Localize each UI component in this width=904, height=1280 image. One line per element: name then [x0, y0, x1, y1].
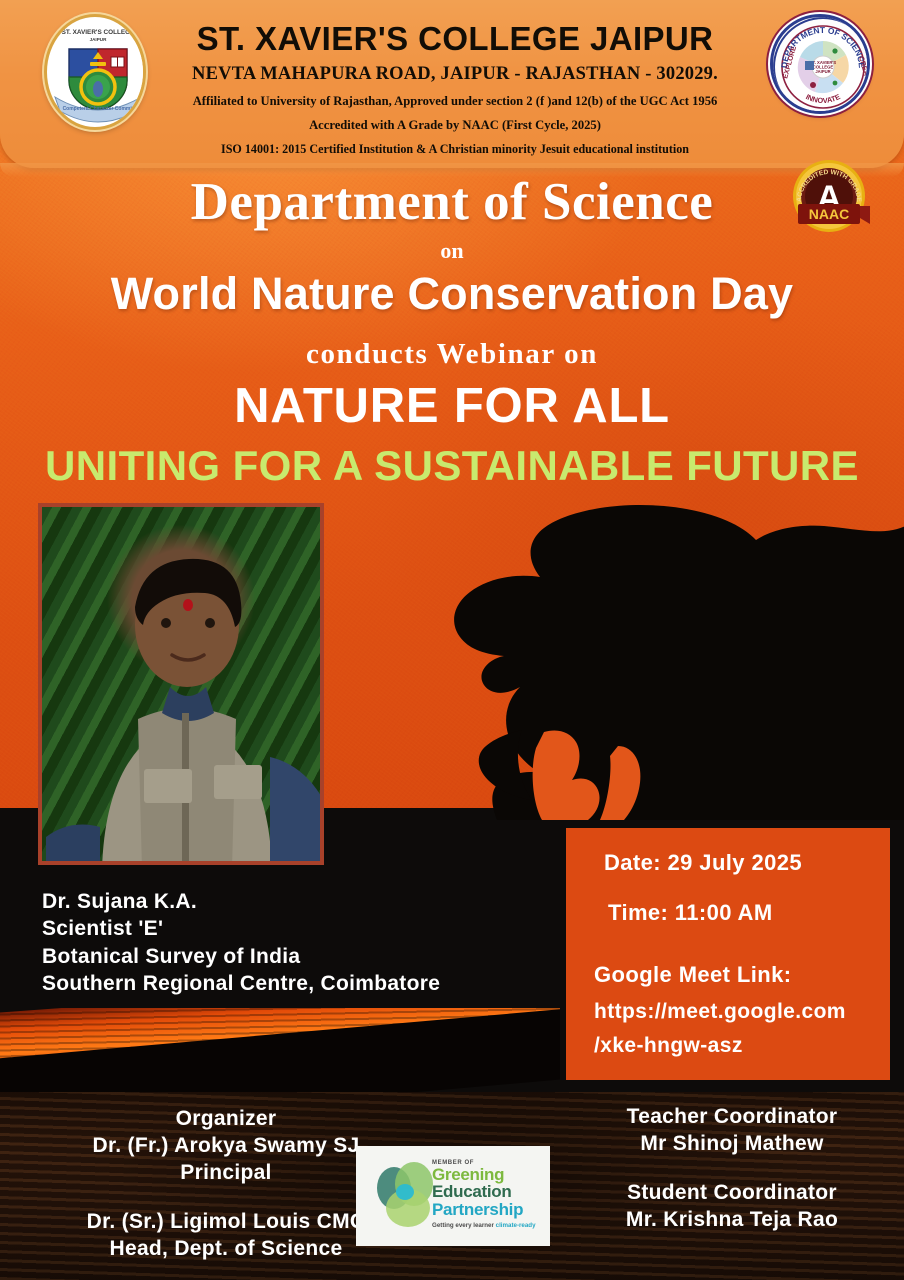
department-title: Department of Science — [0, 172, 904, 232]
webinar-topic: NATURE FOR ALL — [0, 378, 904, 434]
gep-line3: Partnership — [432, 1201, 536, 1218]
iso-line: ISO 14001: 2015 Certified Institution & … — [150, 143, 760, 157]
gep-line2: Education — [432, 1183, 536, 1200]
sunset-water-silhouette — [0, 1008, 560, 1094]
poster-root: ST. XAVIER'S COLLEGE JAIPUR Competent Ch… — [0, 0, 904, 1280]
on-connector: on — [0, 238, 904, 264]
gep-tagline-b: climate-ready — [496, 1222, 536, 1229]
webinar-subtitle: UNITING FOR A SUSTAINABLE FUTURE — [0, 442, 904, 490]
student-coordinator-name: Mr. Krishna Teja Rao — [560, 1207, 904, 1234]
college-name: ST. XAVIER'S COLLEGE JAIPUR — [150, 22, 760, 57]
student-coordinator-label: Student Coordinator — [560, 1180, 904, 1207]
google-meet-link[interactable]: https://meet.google.com — [594, 1000, 890, 1024]
speaker-designation: Scientist 'E' — [42, 915, 562, 942]
coordinator-credits: Teacher Coordinator Mr Shinoj Mathew Stu… — [560, 1104, 904, 1234]
google-meet-label: Google Meet Link: — [594, 962, 890, 988]
event-date: Date: 29 July 2025 — [604, 850, 890, 876]
google-meet-link-path[interactable]: /xke-hngw-asz — [594, 1034, 890, 1058]
st-xaviers-college-crest-icon: ST. XAVIER'S COLLEGE JAIPUR Competent Ch… — [44, 14, 146, 130]
gep-tagline: Getting every learner climate-ready — [432, 1222, 536, 1229]
gep-text-block: MEMBER OF Greening Education Partnership… — [432, 1160, 536, 1229]
organizer-label: Organizer — [0, 1106, 452, 1133]
event-info-box: Date: 29 July 2025 Time: 11:00 AM Google… — [566, 828, 890, 1080]
speaker-details: Dr. Sujana K.A. Scientist 'E' Botanical … — [42, 888, 562, 997]
speaker-centre: Southern Regional Centre, Coimbatore — [42, 970, 562, 997]
elephant-silhouette-icon — [372, 480, 904, 820]
teacher-coordinator-label: Teacher Coordinator — [560, 1104, 904, 1131]
speaker-photo — [38, 503, 324, 865]
accreditation-line: Accredited with A Grade by NAAC (First C… — [150, 118, 760, 132]
speaker-organisation: Botanical Survey of India — [42, 943, 562, 970]
header-text-block: ST. XAVIER'S COLLEGE JAIPUR NEVTA MAHAPU… — [150, 22, 760, 156]
occasion-title: World Nature Conservation Day — [0, 268, 904, 320]
greening-education-partnership-logo-icon: MEMBER OF Greening Education Partnership… — [356, 1146, 550, 1246]
teacher-coordinator-name: Mr Shinoj Mathew — [560, 1131, 904, 1158]
svg-text:ST. XAVIER'S COLLEGE: ST. XAVIER'S COLLEGE — [62, 29, 136, 36]
event-time: Time: 11:00 AM — [608, 900, 890, 926]
gep-line1: Greening — [432, 1166, 536, 1183]
department-of-science-seal-icon: DEPARTMENT OF SCIENCE INNOVATE EXPLORE C… — [770, 14, 870, 114]
svg-text:Competent Character Commit: Competent Character Commit — [63, 106, 134, 112]
svg-text:JAIPUR: JAIPUR — [815, 69, 830, 74]
affiliation-line: Affiliated to University of Rajasthan, A… — [150, 94, 760, 108]
gep-tagline-a: Getting every learner — [432, 1222, 496, 1229]
conducts-webinar-line: conducts Webinar on — [0, 338, 904, 371]
college-address: NEVTA MAHAPURA ROAD, JAIPUR - RAJASTHAN … — [150, 64, 760, 85]
credits-spacer-right — [560, 1158, 904, 1180]
svg-text:JAIPUR: JAIPUR — [90, 37, 108, 42]
speaker-name: Dr. Sujana K.A. — [42, 888, 562, 915]
